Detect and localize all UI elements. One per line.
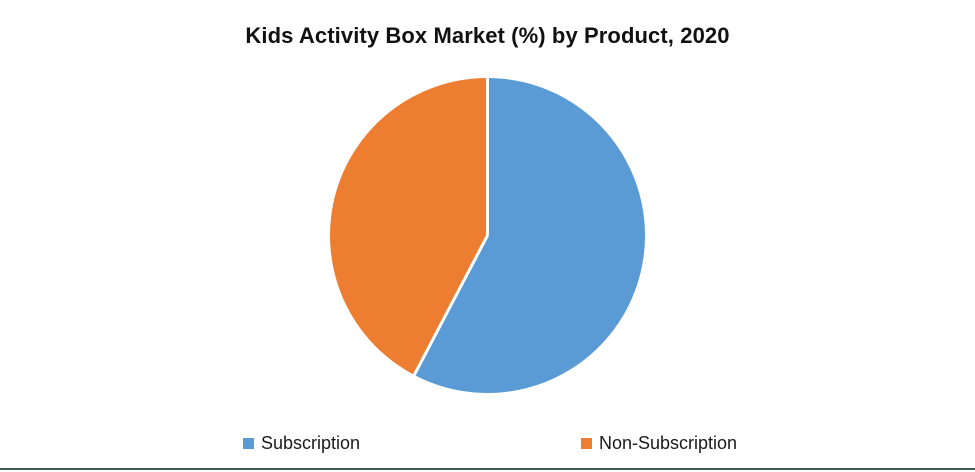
chart-legend: Subscription Non-Subscription (0, 428, 975, 458)
chart-canvas: Kids Activity Box Market (%) by Product,… (0, 0, 975, 472)
legend-swatch-icon (243, 438, 254, 449)
legend-item-label: Non-Subscription (599, 432, 737, 454)
bottom-divider (0, 468, 975, 470)
legend-swatch-icon (581, 438, 592, 449)
pie-chart-plot-area (0, 0, 975, 410)
legend-item-subscription[interactable]: Subscription (243, 428, 360, 458)
legend-item-non-subscription[interactable]: Non-Subscription (581, 428, 737, 458)
legend-item-label: Subscription (261, 432, 360, 454)
pie-chart-svg (0, 0, 975, 410)
